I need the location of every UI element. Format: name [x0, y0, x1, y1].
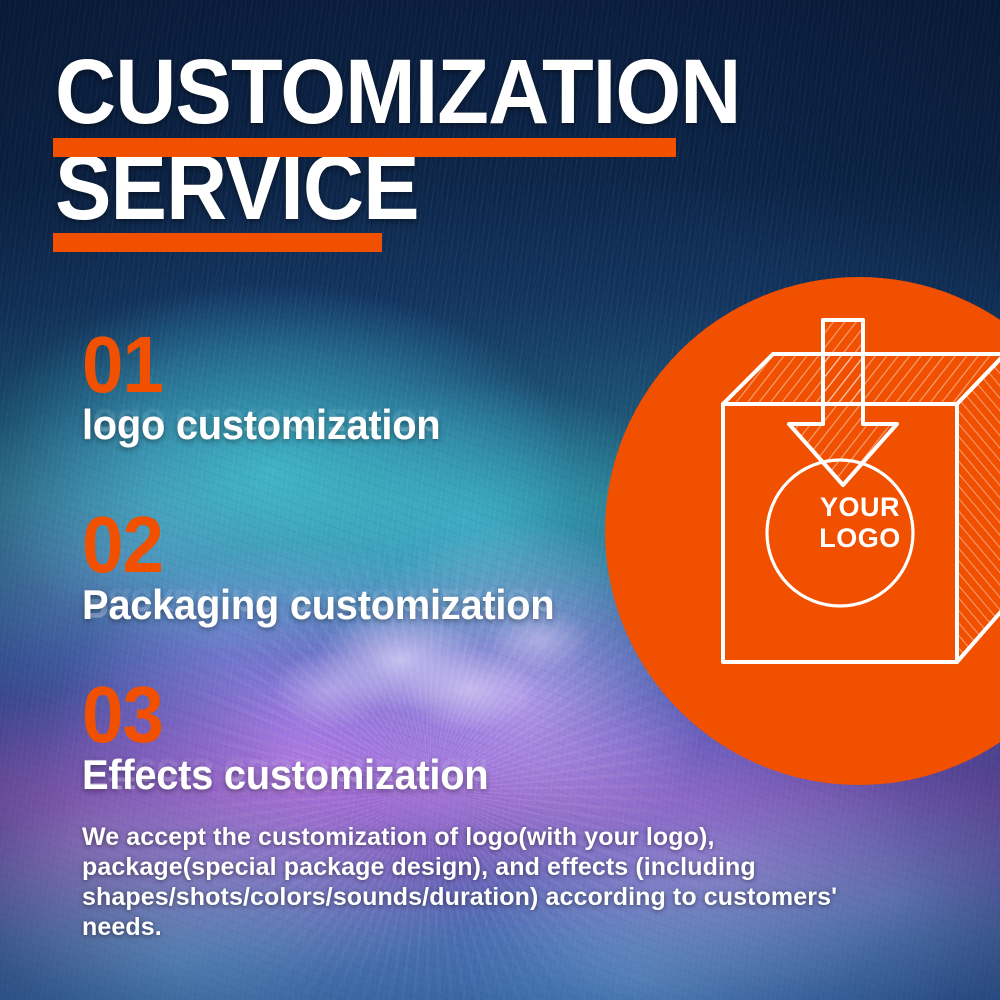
service-item-number: 03	[82, 678, 480, 752]
headline-line-1: CUSTOMIZATION	[55, 44, 699, 140]
your-logo-line-2: LOGO	[780, 523, 940, 554]
headline-underline-bar-2	[53, 233, 382, 252]
box-right-face	[957, 354, 1000, 662]
service-item-logo: 01 logo customization logo customization	[82, 328, 459, 448]
service-item-label-wrap: logo customization logo customization	[82, 402, 459, 448]
service-item-packaging: 02 Packaging customization Packaging cus…	[82, 508, 579, 628]
service-item-label: logo customization	[82, 402, 440, 448]
service-item-label-wrap: Packaging customization Packaging custom…	[82, 582, 579, 628]
service-item-number: 01	[82, 328, 433, 402]
customization-service-poster: CUSTOMIZATION SERVICE 01 logo customizat…	[0, 0, 1000, 1000]
description-paragraph: We accept the customization of logo(with…	[82, 822, 852, 942]
orange-circle-badge: YOUR LOGO	[605, 277, 1000, 785]
your-logo-text: YOUR LOGO	[780, 492, 940, 554]
headline-underline-bar-1	[53, 138, 676, 157]
service-item-label-wrap: Effects customization Effects customizat…	[82, 752, 510, 798]
service-item-number: 02	[82, 508, 544, 582]
your-logo-line-1: YOUR	[780, 492, 940, 523]
service-item-effects: 03 Effects customization Effects customi…	[82, 678, 510, 798]
service-item-label: Packaging customization	[82, 582, 554, 628]
box-top-face	[723, 354, 1000, 404]
service-item-label: Effects customization	[82, 752, 488, 798]
